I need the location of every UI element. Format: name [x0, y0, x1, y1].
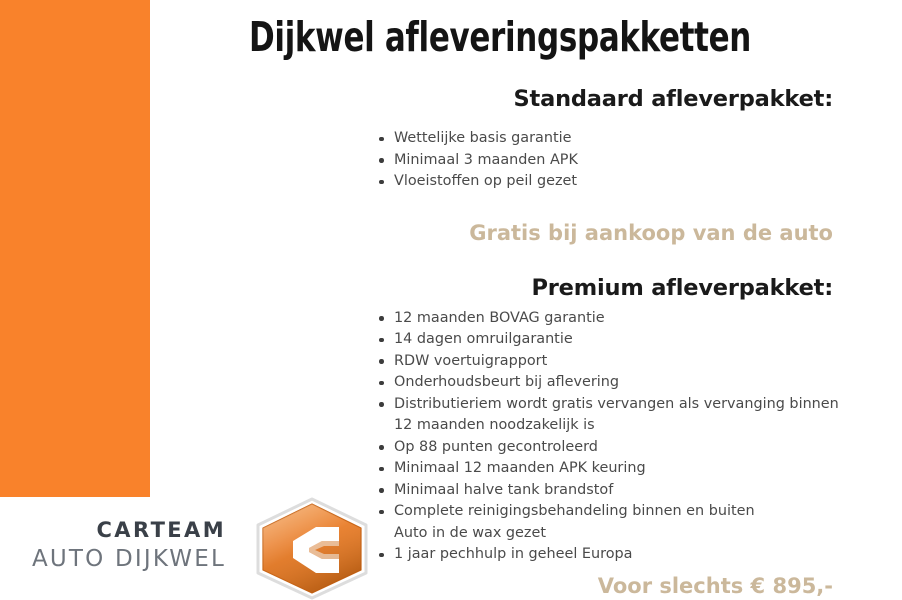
bullet-dot-icon [379, 137, 384, 142]
list-item: RDW voertuigrapport [360, 351, 840, 373]
list-item-label: Minimaal halve tank brandstof [394, 482, 613, 498]
bullet-dot-icon [379, 316, 384, 321]
premium-package-list: 12 maanden BOVAG garantie 14 dagen omrui… [360, 308, 840, 566]
list-item-label: Distributieriem wordt gratis vervangen a… [394, 396, 839, 434]
bullet-dot-icon [379, 359, 384, 364]
bullet-dot-icon [379, 338, 384, 343]
standard-package-heading: Standaard afleverpakket: [360, 84, 840, 114]
bullet-dot-icon [379, 467, 384, 472]
standard-package-list: Wettelijke basis garantie Minimaal 3 maa… [360, 128, 840, 193]
list-item-label: 14 dagen omruilgarantie [394, 331, 573, 347]
list-item: Minimaal 12 maanden APK keuring [360, 458, 840, 480]
list-item: 1 jaar pechhulp in geheel Europa [360, 544, 840, 566]
list-item: 14 dagen omruilgarantie [360, 329, 840, 351]
brand-wordmark: CARTEAM AUTO DIJKWEL [0, 516, 250, 574]
list-item-label: Minimaal 3 maanden APK [394, 152, 578, 168]
list-item: Minimaal 3 maanden APK [360, 150, 840, 172]
list-item-label: Onderhoudsbeurt bij aflevering [394, 374, 619, 390]
list-item: Minimaal halve tank brandstof [360, 480, 840, 502]
orange-accent-bar [0, 0, 150, 497]
list-item: 12 maanden BOVAG garantie [360, 308, 840, 330]
premium-package-price-note: Voor slechts € 895,- [360, 572, 840, 600]
poster-page: Dijkwel afleveringspakketten Standaard a… [0, 0, 902, 600]
brand-name-auto-dijkwel: AUTO DIJKWEL [0, 544, 226, 574]
list-item-label: Op 88 punten gecontroleerd [394, 439, 598, 455]
list-item: Op 88 punten gecontroleerd [360, 437, 840, 459]
spacer [360, 247, 840, 273]
list-item-label: Minimaal 12 maanden APK keuring [394, 460, 646, 476]
bullet-dot-icon [379, 381, 384, 386]
bullet-dot-icon [379, 180, 384, 185]
list-item-label: Vloeistoffen op peil gezet [394, 173, 577, 189]
list-item-label: 1 jaar pechhulp in geheel Europa [394, 546, 632, 562]
bullet-dot-icon [379, 402, 384, 407]
spacer [360, 193, 840, 219]
bullet-dot-icon [379, 510, 384, 515]
premium-package-heading: Premium afleverpakket: [360, 273, 840, 303]
bullet-dot-icon [379, 158, 384, 163]
list-item-label: Wettelijke basis garantie [394, 130, 571, 146]
bullet-dot-icon [379, 553, 384, 558]
carteam-hexagon-logo-icon [253, 497, 371, 600]
list-item: Distributieriem wordt gratis vervangen a… [360, 394, 840, 437]
list-item: Vloeistoffen op peil gezet [360, 171, 840, 193]
content-column: Standaard afleverpakket: Wettelijke basi… [360, 84, 840, 600]
standard-package-note: Gratis bij aankoop van de auto [360, 219, 840, 247]
bullet-dot-icon [379, 445, 384, 450]
brand-name-carteam: CARTEAM [0, 516, 226, 544]
list-item-label: Complete reinigingsbehandeling binnen en… [394, 503, 755, 519]
bullet-dot-icon [379, 488, 384, 493]
list-item-label: 12 maanden BOVAG garantie [394, 310, 605, 326]
list-item: Wettelijke basis garantie [360, 128, 840, 150]
list-item: Onderhoudsbeurt bij aflevering [360, 372, 840, 394]
page-title: Dijkwel afleveringspakketten [206, 12, 794, 62]
list-item: Complete reinigingsbehandeling binnen en… [360, 501, 840, 544]
list-item-continuation: Auto in de wax gezet [394, 523, 840, 545]
list-item-label: RDW voertuigrapport [394, 353, 547, 369]
